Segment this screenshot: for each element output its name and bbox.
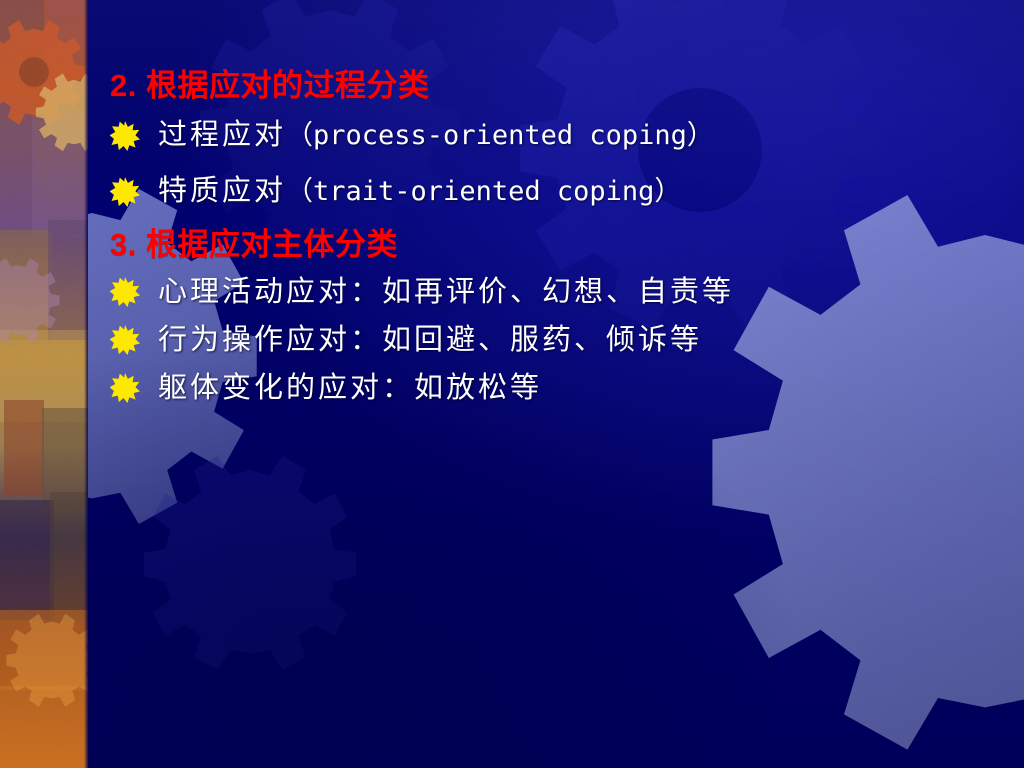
list-item-label: 躯体变化的应对：如放松等 [158, 371, 542, 406]
starburst-bullet-icon [110, 373, 140, 403]
list-item-label-en: （process-oriented coping） [286, 120, 714, 151]
section-heading-3: 3. 根据应对主体分类 [110, 227, 990, 264]
list-item-label-en: （trait-oriented coping） [286, 176, 681, 207]
list-item-label-cn: 心理活动应对：如再评价、幻想、自责等 [158, 274, 734, 308]
list-item-label-cn: 躯体变化的应对：如放松等 [158, 370, 542, 404]
list-item-label-cn: 过程应对 [158, 117, 286, 151]
starburst-bullet-icon [110, 121, 140, 151]
starburst-bullet-icon [110, 277, 140, 307]
list-item-label: 心理活动应对：如再评价、幻想、自责等 [158, 275, 734, 310]
list-item-label: 行为操作应对：如回避、服药、倾诉等 [158, 323, 702, 358]
section-heading-2: 2. 根据应对的过程分类 [110, 68, 990, 105]
starburst-bullet-icon [110, 325, 140, 355]
list-item-label: 特质应对（trait-oriented coping） [158, 174, 681, 209]
strip-edge-shadow [84, 0, 88, 768]
list-item: 躯体变化的应对：如放松等 [110, 365, 990, 411]
presentation-slide: 2. 根据应对的过程分类 过程应对（process-oriented copin… [0, 0, 1024, 768]
list-item: 行为操作应对：如回避、服药、倾诉等 [110, 317, 990, 363]
list-item-label-cn: 特质应对 [158, 173, 286, 207]
list-item-label: 过程应对（process-oriented coping） [158, 118, 714, 153]
starburst-bullet-icon [110, 177, 140, 207]
list-item-label-cn: 行为操作应对：如回避、服药、倾诉等 [158, 322, 702, 356]
list-item: 心理活动应对：如再评价、幻想、自责等 [110, 269, 990, 315]
list-item: 特质应对（trait-oriented coping） [110, 167, 990, 217]
section-subject-classification: 3. 根据应对主体分类 心理活动应对：如再评价、幻想、自责等 行为操作应对：如回… [110, 227, 990, 412]
slide-content: 2. 根据应对的过程分类 过程应对（process-oriented copin… [110, 68, 990, 413]
section-process-classification: 2. 根据应对的过程分类 过程应对（process-oriented copin… [110, 68, 990, 217]
list-item: 过程应对（process-oriented coping） [110, 111, 990, 161]
decorative-collage-strip [0, 0, 88, 768]
